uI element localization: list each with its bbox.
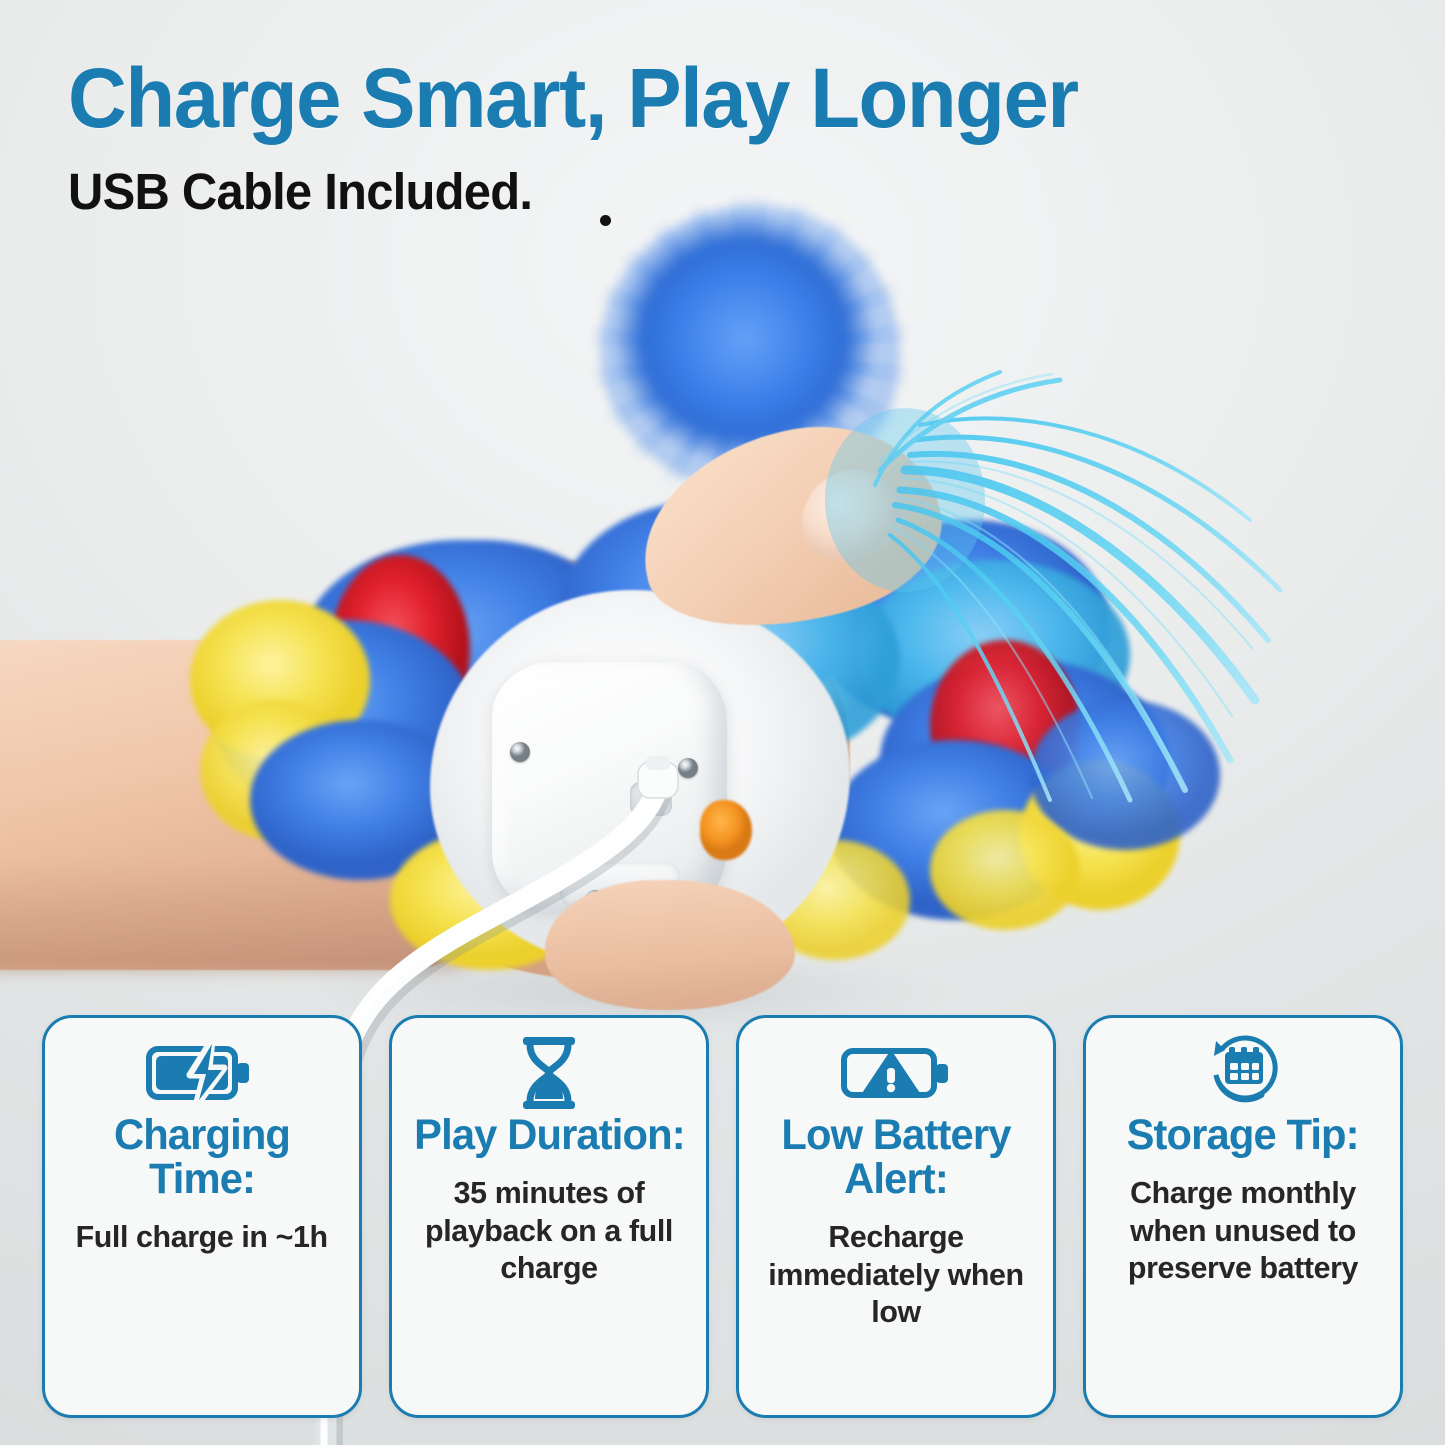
hourglass-icon: [511, 1040, 587, 1106]
battery-warning-icon: [841, 1040, 951, 1106]
battery-charging-icon: [146, 1040, 258, 1106]
card-body: Recharge immediately when low: [752, 1218, 1040, 1331]
card-title: Storage Tip:: [1127, 1114, 1359, 1158]
screw: [678, 758, 698, 778]
feature-card-storage-tip[interactable]: Storage Tip: Charge monthly when unused …: [1083, 1015, 1403, 1418]
feature-card-low-battery-alert[interactable]: Low Battery Alert: Recharge immediately …: [736, 1015, 1056, 1418]
card-title: Charging Time:: [59, 1114, 344, 1202]
card-body: Charge monthly when unused to preserve b…: [1099, 1174, 1387, 1287]
product-infographic: Charge Smart, Play Longer USB Cable Incl…: [0, 0, 1445, 1445]
charging-port: [630, 782, 672, 816]
internal-orange-part: [700, 800, 752, 860]
page-title: Charge Smart, Play Longer: [68, 56, 1329, 140]
card-title: Low Battery Alert:: [753, 1114, 1038, 1202]
card-body: 35 minutes of playback on a full charge: [405, 1174, 693, 1287]
feature-card-charging-time[interactable]: Charging Time: Full charge in ~1h: [42, 1015, 362, 1418]
header: Charge Smart, Play Longer USB Cable Incl…: [68, 56, 1368, 221]
card-title: Play Duration:: [414, 1114, 685, 1158]
screw: [510, 742, 530, 762]
feature-card-play-duration[interactable]: Play Duration: 35 minutes of playback on…: [389, 1015, 709, 1418]
feature-card-row: Charging Time: Full charge in ~1h Play D…: [42, 1015, 1403, 1418]
card-body: Full charge in ~1h: [76, 1218, 328, 1256]
fur-tuft-yellow-right-low: [930, 810, 1080, 930]
calendar-refresh-icon: [1203, 1040, 1283, 1106]
page-subtitle: USB Cable Included.: [68, 162, 1316, 221]
